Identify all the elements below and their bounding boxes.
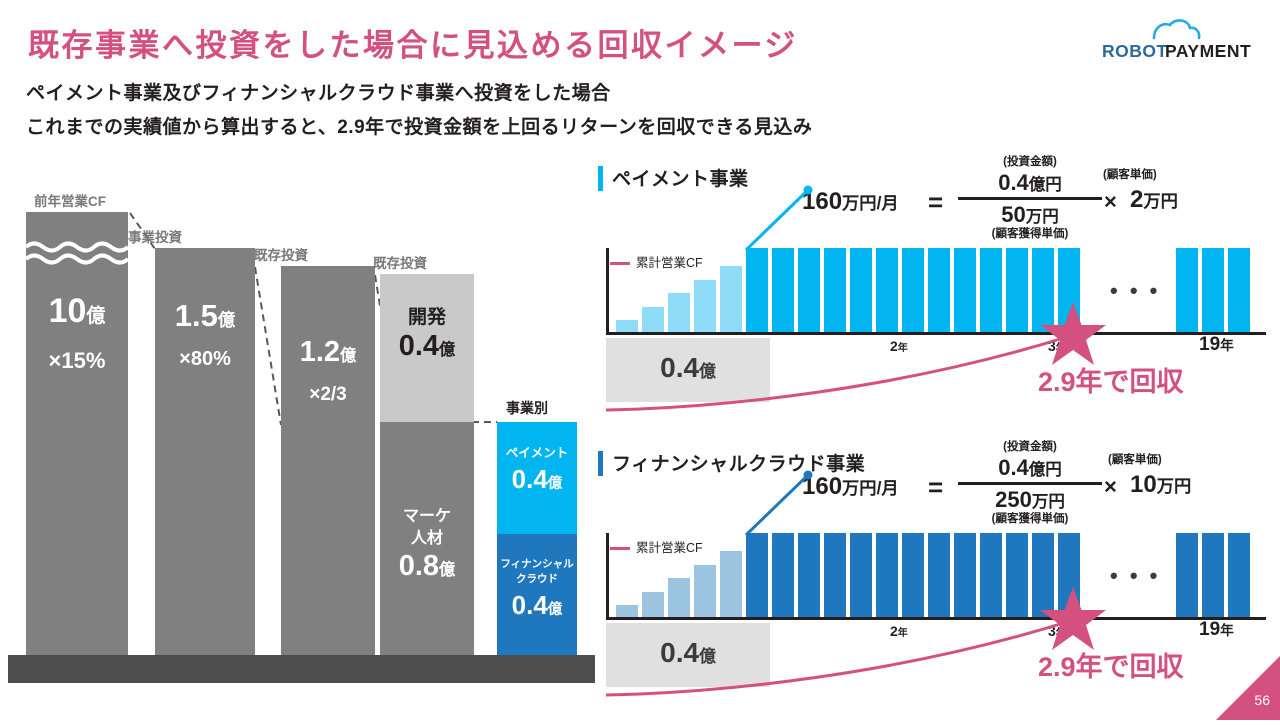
waterfall-bar-2: 1.2億 ×2/3	[281, 266, 375, 655]
waterfall-base-0	[8, 655, 146, 683]
y-axis-payment	[606, 248, 609, 332]
robot-payment-logo: ROBOT PAYMENT	[1096, 16, 1264, 62]
unit-caption-payment: (顧客単価)	[1103, 166, 1157, 182]
formula-times-payment: ×	[1104, 189, 1117, 215]
numerator-caption-financial: (投資金額)	[958, 441, 1102, 454]
panel-accent-bar-payment	[598, 166, 603, 191]
business-label-financial-1: フィナンシャル	[497, 556, 577, 571]
waterfall-multiplier-2: ×2/3	[281, 384, 375, 406]
svg-text:PAYMENT: PAYMENT	[1165, 41, 1251, 61]
full-bar-2	[798, 533, 820, 617]
waterfall-segment-marketing: マーケ 人材 0.8億	[380, 422, 474, 655]
business-segment-payment: ペイメント 0.4億	[497, 422, 577, 534]
waterfall-multiplier-0: ×15%	[26, 348, 128, 374]
ellipsis-payment: • • •	[1110, 278, 1160, 304]
waterfall-label-3: 既存投資	[340, 252, 460, 272]
formula-unit-financial: 10万円	[1130, 471, 1191, 499]
denominator-caption-payment: (顧客獲得単価)	[958, 228, 1102, 241]
ramp-bar-3	[694, 565, 716, 617]
ramp-bar-3	[694, 280, 716, 332]
full-bar-4	[850, 533, 872, 617]
panel-accent-bar-financial	[598, 451, 603, 476]
business-label-payment: ペイメント	[497, 442, 577, 461]
full-bar-6	[902, 533, 924, 617]
denominator-financial: 250万円	[958, 486, 1102, 514]
denominator-payment: 50万円	[958, 201, 1102, 229]
segment-label-marketing-1: マーケ	[380, 502, 474, 526]
numerator-caption-payment: (投資金額)	[958, 156, 1102, 169]
panel-payment: ペイメント事業 160万円/月 = (投資金額) 0.4億円 50万円 (顧客獲…	[598, 160, 1270, 420]
business-value-financial: 0.4億	[497, 592, 577, 618]
unit-caption-financial: (顧客単価)	[1108, 451, 1162, 467]
waterfall-base-4	[479, 655, 595, 683]
tail-bar-0	[1176, 248, 1198, 332]
tail-bar-2	[1228, 533, 1250, 617]
full-bar-1	[772, 248, 794, 332]
panel-financial: フィナンシャルクラウド事業 160万円/月 = (投資金額) 0.4億円 250…	[598, 445, 1270, 705]
subtitle-line-1: ペイメント事業及びフィナンシャルクラウド事業へ投資をした場合	[26, 78, 611, 105]
fraction-rule-financial	[958, 482, 1102, 485]
full-bar-6	[902, 248, 924, 332]
ramp-bar-4	[720, 551, 742, 617]
formula-fraction-financial: (投資金額) 0.4億円 250万円 (顧客獲得単価)	[958, 441, 1102, 526]
full-bar-10	[1006, 533, 1028, 617]
formula-fraction-payment: (投資金額) 0.4億円 50万円 (顧客獲得単価)	[958, 156, 1102, 241]
full-bar-4	[850, 248, 872, 332]
full-bar-7	[928, 533, 950, 617]
full-bar-5	[876, 248, 898, 332]
ramp-bar-2	[668, 578, 690, 617]
full-bar-1	[772, 533, 794, 617]
business-value-payment: 0.4億	[497, 466, 577, 492]
waterfall-bar-4: ペイメント 0.4億 フィナンシャル クラウド 0.4億	[497, 422, 577, 655]
formula-unit-payment: 2万円	[1130, 186, 1178, 214]
denominator-caption-financial: (顧客獲得単価)	[958, 513, 1102, 526]
full-bar-10	[1006, 248, 1028, 332]
full-bar-7	[928, 248, 950, 332]
subtitle-line-2: これまでの実績値から算出すると、2.9年で投資金額を上回るリターンを回収できる見…	[26, 112, 812, 139]
waterfall-label-1: 事業投資	[95, 226, 215, 246]
tail-bar-1	[1202, 533, 1224, 617]
fraction-rule-payment	[958, 197, 1102, 200]
full-bar-2	[798, 248, 820, 332]
tail-bar-1	[1202, 248, 1224, 332]
segment-label-dev: 開発	[380, 302, 474, 329]
waterfall-chart: 前年営業CF 10億 ×15% 事業投資 1.5億 ×80% 既存投資 1.2億…	[0, 150, 600, 690]
plot-payment: • • •	[606, 248, 1266, 332]
waterfall-bar-0: 10億 ×15%	[26, 212, 128, 655]
plot-financial: • • •	[606, 533, 1266, 617]
svg-text:ROBOT: ROBOT	[1102, 41, 1168, 61]
page-corner-decoration	[1190, 656, 1280, 720]
full-bar-5	[876, 533, 898, 617]
business-segment-financial: フィナンシャル クラウド 0.4億	[497, 534, 577, 655]
ellipsis-financial: • • •	[1110, 563, 1160, 589]
y-axis-financial	[606, 533, 609, 617]
leader-line-financial	[718, 469, 828, 543]
full-bar-8	[954, 248, 976, 332]
full-bar-9	[980, 248, 1002, 332]
full-bar-3	[824, 248, 846, 332]
page-title: 既存事業へ投資をした場合に見込める回収イメージ	[28, 20, 798, 65]
full-bar-3	[824, 533, 846, 617]
full-bar-8	[954, 533, 976, 617]
business-label-financial-2: クラウド	[497, 571, 577, 586]
full-bar-0	[746, 533, 768, 617]
waterfall-bar-3: 開発 0.4億 マーケ 人材 0.8億	[380, 274, 474, 655]
tail-bar-0	[1176, 533, 1198, 617]
waterfall-base-3	[362, 655, 492, 683]
recovery-label-payment: 2.9年で回収	[1038, 360, 1184, 399]
waterfall-label-0: 前年営業CF	[10, 190, 130, 210]
waterfall-base-1	[137, 655, 273, 683]
segment-value-marketing: 0.8億	[380, 552, 474, 581]
slide-root: 既存事業へ投資をした場合に見込める回収イメージ ペイメント事業及びフィナンシャル…	[0, 0, 1280, 720]
ramp-bar-2	[668, 293, 690, 332]
full-bar-0	[746, 248, 768, 332]
leader-line-payment	[718, 184, 828, 258]
waterfall-value-0: 10億	[26, 294, 128, 328]
ramp-bar-4	[720, 266, 742, 332]
waterfall-label-2: 既存投資	[221, 244, 341, 264]
waterfall-multiplier-1: ×80%	[155, 348, 255, 371]
waterfall-value-1: 1.5億	[155, 300, 255, 331]
waterfall-segment-dev: 開発 0.4億	[380, 274, 474, 422]
formula-times-financial: ×	[1104, 474, 1117, 500]
waterfall-label-4: 事業別	[477, 398, 577, 418]
recovery-label-financial: 2.9年で回収	[1038, 645, 1184, 684]
segment-label-marketing-2: 人材	[380, 524, 474, 548]
formula-equals-financial: =	[928, 472, 943, 503]
page-number: 56	[1254, 692, 1270, 708]
numerator-payment: 0.4億円	[958, 169, 1102, 197]
tail-bar-2	[1228, 248, 1250, 332]
waterfall-bar-1: 1.5億 ×80%	[155, 248, 255, 655]
segment-value-dev: 0.4億	[380, 332, 474, 361]
numerator-financial: 0.4億円	[958, 454, 1102, 482]
waterfall-value-2: 1.2億	[281, 338, 375, 367]
full-bar-9	[980, 533, 1002, 617]
formula-equals-payment: =	[928, 187, 943, 218]
